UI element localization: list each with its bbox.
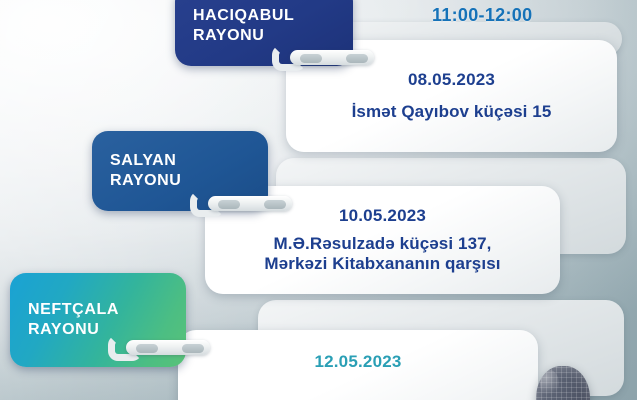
- schedule-date-2: 10.05.2023: [339, 206, 426, 226]
- schedule-address-2-line1: M.Ə.Rəsulzadə küçəsi 137,: [274, 234, 492, 254]
- region-badge-salyan-line2: RAYONU: [110, 171, 268, 191]
- schedule-card-3[interactable]: 12.05.2023: [178, 330, 538, 400]
- schedule-date-3: 12.05.2023: [314, 352, 401, 372]
- region-badge-neftcala[interactable]: NEFTÇALA RAYONU: [10, 273, 186, 367]
- region-badge-salyan[interactable]: SALYAN RAYONU: [92, 131, 268, 211]
- region-badge-neftcala-line2: RAYONU: [28, 320, 186, 340]
- schedule-address-1: İsmət Qayıbov küçəsi 15: [352, 102, 552, 122]
- schedule-address-2-line2: Mərkəzi Kitabxananın qarşısı: [264, 254, 500, 274]
- region-badge-haciqabul[interactable]: HACIQABUL RAYONU: [175, 0, 353, 66]
- session-time-label: 11:00-12:00: [432, 5, 532, 26]
- region-badge-neftcala-line1: NEFTÇALA: [28, 300, 186, 320]
- region-badge-haciqabul-line1: HACIQABUL: [193, 6, 353, 26]
- schedule-date-1: 08.05.2023: [408, 70, 495, 90]
- region-badge-salyan-line1: SALYAN: [110, 151, 268, 171]
- microphone-head: [536, 366, 590, 400]
- microphone-highlight: [540, 370, 558, 399]
- region-badge-haciqabul-line2: RAYONU: [193, 26, 353, 46]
- poster-canvas: 11:00-12:00 08.05.2023 İsmət Qayıbov küç…: [0, 0, 637, 400]
- microphone-icon: [536, 366, 590, 400]
